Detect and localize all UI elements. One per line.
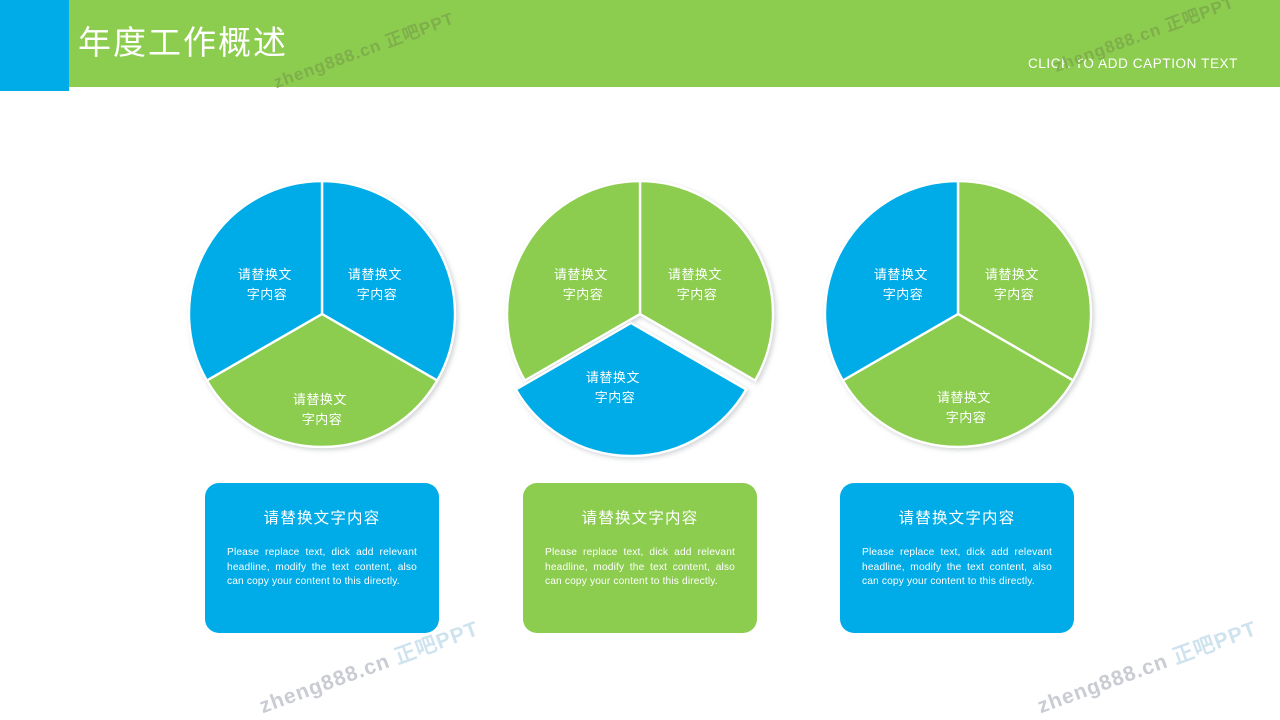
watermark-domain: zheng888.cn (1034, 650, 1171, 718)
info-card-body: Please replace text, dick add relevant h… (862, 546, 1052, 590)
info-card[interactable]: 请替换文字内容 Please replace text, dick add re… (205, 483, 439, 633)
presentation-slide: 年度工作概述 CLICK TO ADD CAPTION TEXT zheng88… (0, 0, 1280, 720)
pie-chart-2[interactable]: 请替换文 字内容 请替换文 字内容 请替换文 字内容 (500, 174, 780, 454)
info-card-title: 请替换文字内容 (227, 509, 417, 529)
pie-chart-1[interactable]: 请替换文 字内容 请替换文 字内容 请替换文 字内容 (182, 174, 462, 454)
page-title: 年度工作概述 (78, 20, 288, 66)
watermark-brand: 正吧PPT (1170, 617, 1260, 669)
header-accent-block (0, 0, 69, 91)
info-card-title: 请替换文字内容 (862, 509, 1052, 529)
info-card[interactable]: 请替换文字内容 Please replace text, dick add re… (840, 483, 1074, 633)
info-card-body: Please replace text, dick add relevant h… (227, 546, 417, 590)
info-card-body: Please replace text, dick add relevant h… (545, 546, 735, 590)
watermark-domain: zheng888.cn (256, 650, 393, 718)
info-card-title: 请替换文字内容 (545, 509, 735, 529)
slide-header: 年度工作概述 CLICK TO ADD CAPTION TEXT zheng88… (0, 0, 1280, 91)
caption-placeholder[interactable]: CLICK TO ADD CAPTION TEXT (1028, 56, 1238, 71)
pie-chart-3[interactable]: 请替换文 字内容 请替换文 字内容 请替换文 字内容 (818, 174, 1098, 454)
info-card[interactable]: 请替换文字内容 Please replace text, dick add re… (523, 483, 757, 633)
